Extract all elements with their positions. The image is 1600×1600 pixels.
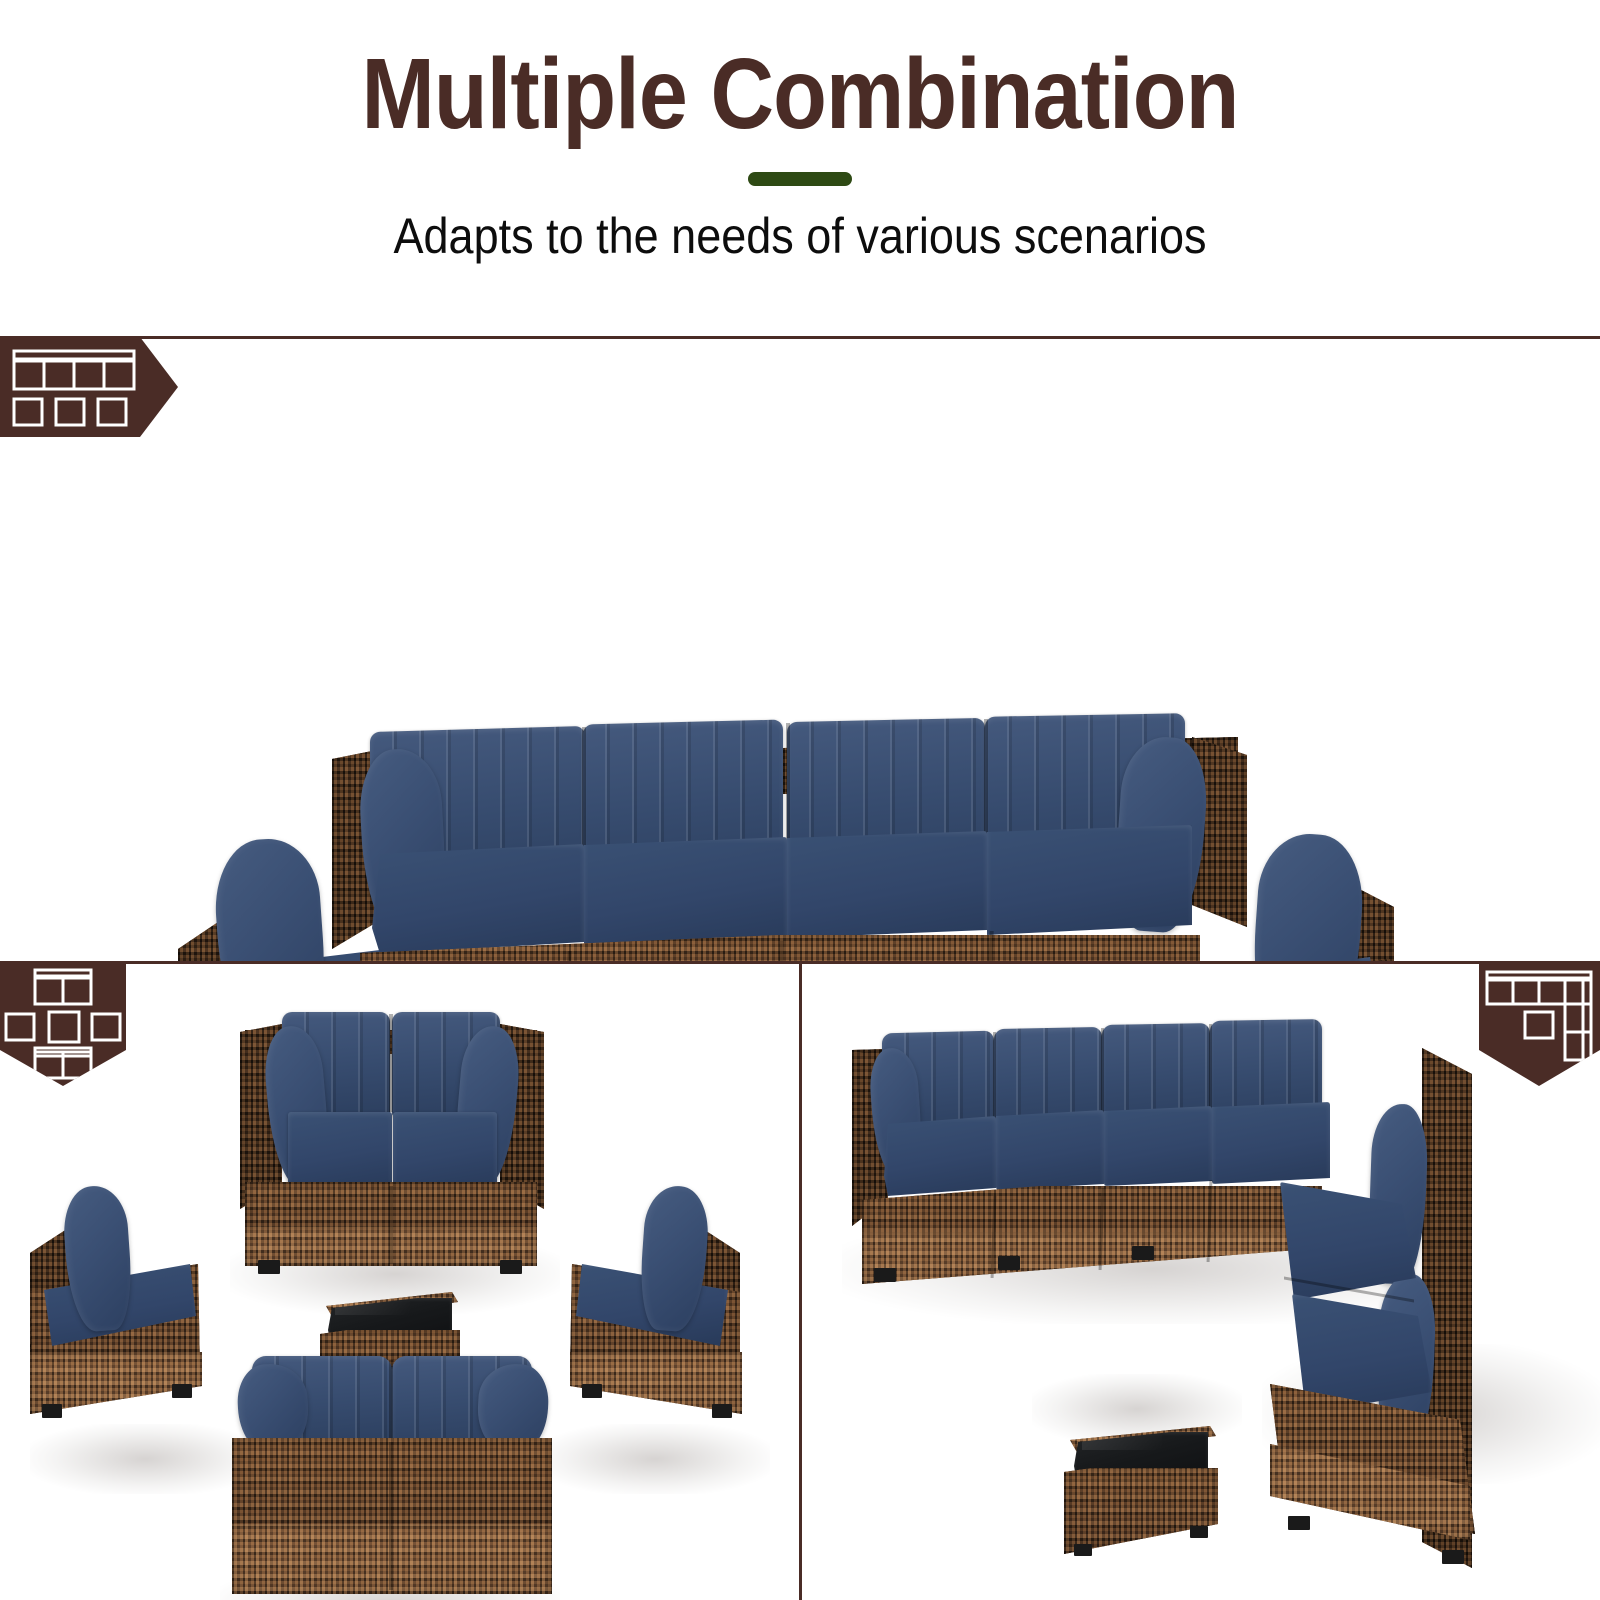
chair-right-bl-foot-2 xyxy=(712,1404,732,1418)
sofa-seat-cushion-2 xyxy=(584,837,787,947)
table-br-foot-2 xyxy=(1190,1526,1208,1538)
sectional-foot-2 xyxy=(998,1256,1020,1270)
table-br-base xyxy=(1064,1468,1218,1554)
page-subtitle: Adapts to the needs of various scenarios xyxy=(80,206,1520,266)
layout-diagram-row-icon xyxy=(0,337,178,437)
sectional-corner-seat-cushion xyxy=(1212,1102,1330,1184)
layout-badge-row[interactable] xyxy=(0,337,178,437)
shadow-chair-right xyxy=(540,1424,770,1494)
loveseat-top-seat-1 xyxy=(288,1112,392,1190)
loveseat-top-foot-2 xyxy=(500,1260,522,1274)
sofa-seat-cushion-3 xyxy=(787,831,987,941)
chair-right-bl-foot-1 xyxy=(582,1384,602,1398)
page-title: Multiple Combination xyxy=(96,38,1504,150)
sectional-back-seam-3 xyxy=(1209,1024,1212,1116)
panel-large-sofa-configuration xyxy=(0,339,1600,961)
infographic-page: Multiple Combination Adapts to the needs… xyxy=(0,0,1600,1600)
loveseat-bottom-back-seam xyxy=(389,1360,393,1446)
chair-left-back-pillow xyxy=(211,836,330,961)
loveseat-top-foot-1 xyxy=(258,1260,280,1274)
sectional-foot-1 xyxy=(874,1268,896,1282)
sectional-leg-foot-1 xyxy=(1288,1516,1310,1530)
loveseat-bottom-base-seam xyxy=(389,1442,393,1590)
sofa-seat-cushion-4 xyxy=(987,825,1192,937)
sectional-seat-cushion-2 xyxy=(996,1110,1104,1190)
panel-l-shaped-sectional xyxy=(802,964,1600,1600)
panel-spread-out-configuration xyxy=(0,964,799,1600)
loveseat-top-back-seam xyxy=(389,1014,393,1112)
sectional-back-seam-1 xyxy=(993,1032,996,1124)
sofa-seat-cushion-1 xyxy=(372,844,584,954)
sectional-front-base-lower xyxy=(862,1232,1322,1284)
header: Multiple Combination Adapts to the needs… xyxy=(0,0,1600,330)
chair-right-back-pillow xyxy=(1248,831,1367,961)
sectional-back-seam-2 xyxy=(1101,1028,1104,1120)
table-br-foot-1 xyxy=(1074,1544,1092,1556)
sectional-seat-cushion-1 xyxy=(884,1116,996,1196)
chair-left-bl-foot-2 xyxy=(172,1384,192,1398)
shadow-chair-left xyxy=(30,1424,260,1494)
loveseat-top-base-seam xyxy=(389,1186,393,1264)
sectional-foot-3 xyxy=(1132,1246,1154,1260)
chair-left-bl-foot-1 xyxy=(42,1404,62,1418)
loveseat-top-seat-2 xyxy=(393,1112,497,1190)
sectional-leg-foot-2 xyxy=(1442,1550,1464,1564)
sectional-seat-cushion-3 xyxy=(1104,1106,1212,1186)
title-divider-dash xyxy=(748,172,852,186)
